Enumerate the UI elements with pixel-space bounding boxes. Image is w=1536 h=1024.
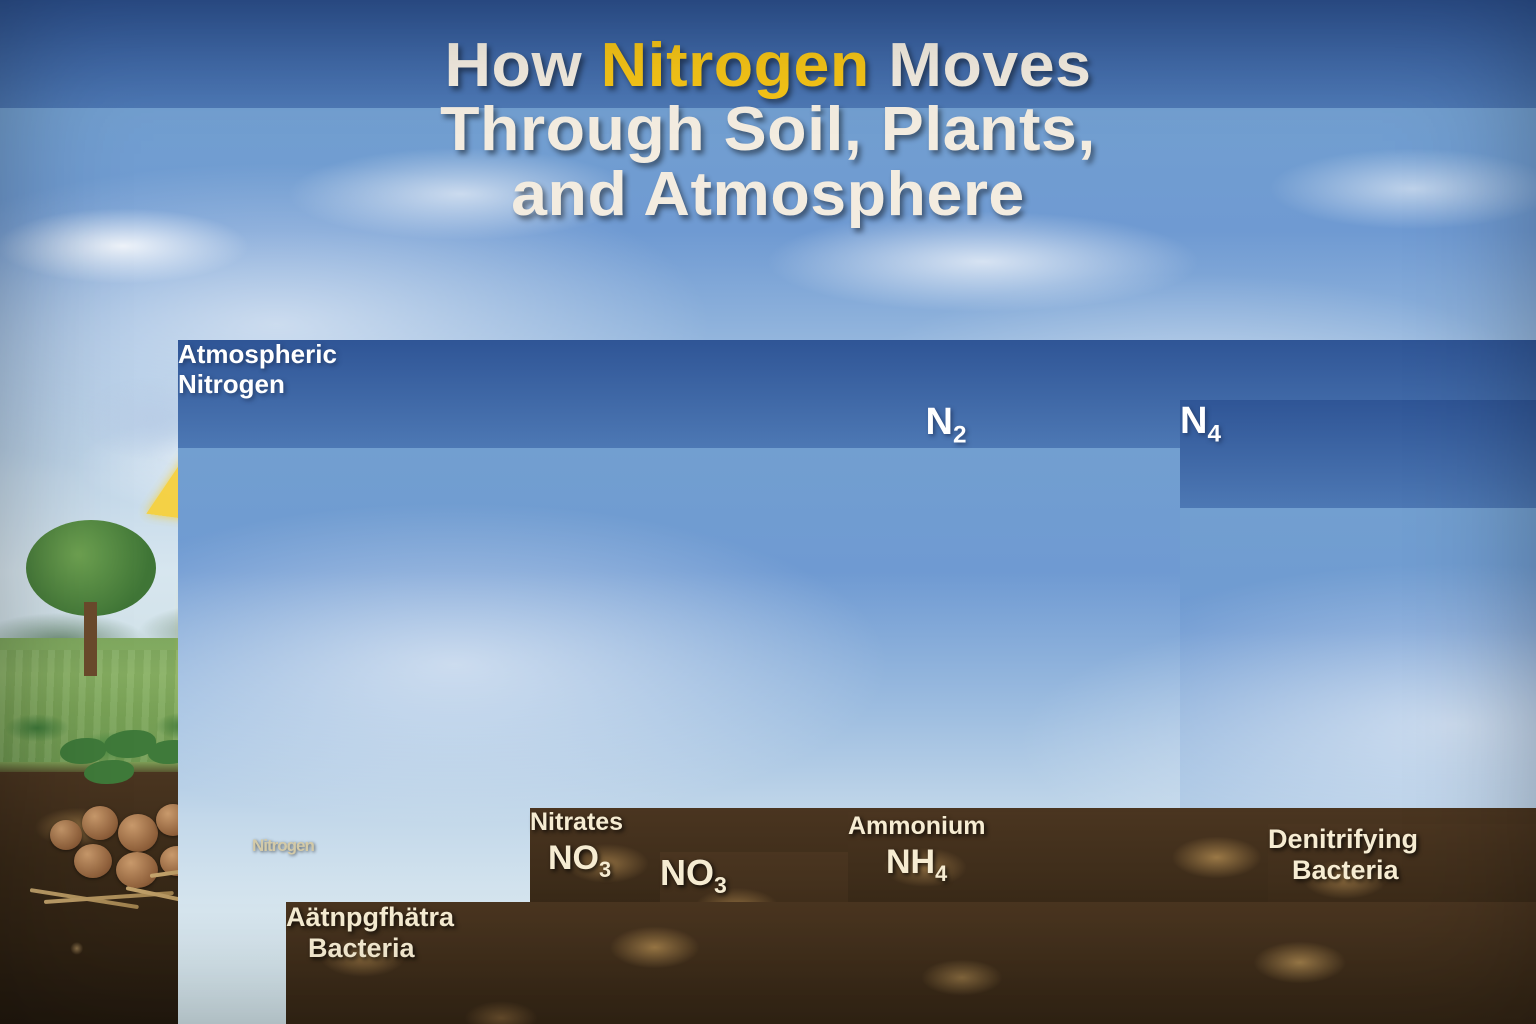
infographic-canvas: NH4 NO3 How Nitrogen Moves Through Soil,…	[0, 0, 1536, 1024]
page-title: How Nitrogen Moves Through Soil, Plants,…	[0, 34, 1536, 227]
label-nitrogen: Nitrogen	[178, 370, 1536, 400]
title-line-3: and Atmosphere	[0, 163, 1536, 227]
label-denitrifying-2: Bacteria	[1292, 855, 1536, 886]
title-line-2: Through Soil, Plants,	[0, 98, 1536, 162]
label-denitrifying-1: Denitrifying	[1268, 824, 1536, 855]
title-line-1: How Nitrogen Moves	[0, 34, 1536, 98]
label-nitrogen-faint: Nitrogen	[252, 836, 314, 855]
label-fixing-garbled-1: Aätnpgfhätra	[286, 902, 1536, 933]
label-fixing-bacteria: Aätnpgfhätra Bacteria	[286, 902, 1536, 1024]
label-atmospheric: Atmospheric	[178, 340, 1536, 370]
label-fixing-garbled-2: Bacteria	[308, 933, 1536, 964]
title-highlight-nitrogen: Nitrogen	[601, 31, 870, 100]
